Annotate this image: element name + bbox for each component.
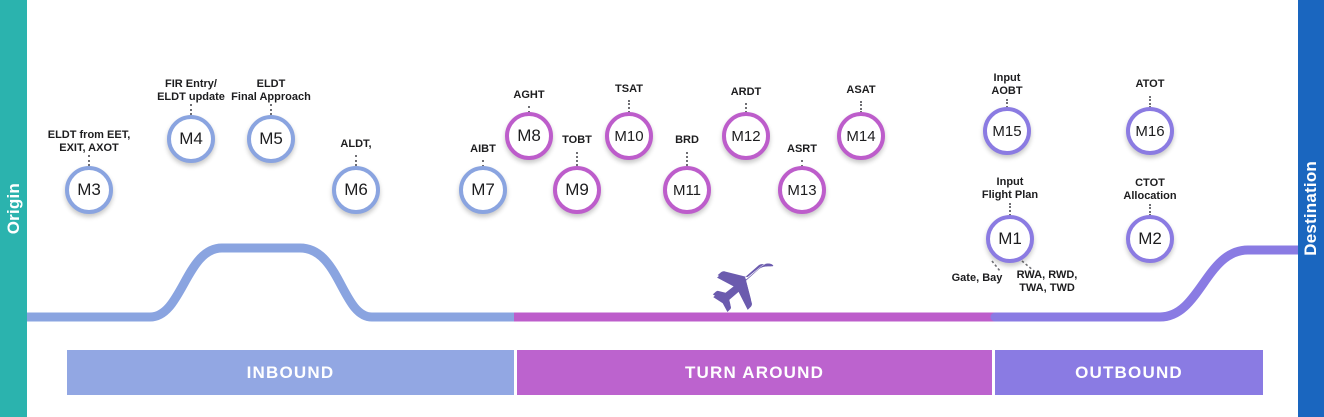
milestone-node-m11[interactable]: M11	[663, 166, 711, 214]
milestone-label-m10: TSAT	[615, 83, 643, 96]
milestone-id-m8: M8	[505, 112, 553, 160]
milestone-label-m8: AGHT	[513, 89, 544, 102]
milestone-node-m2[interactable]: M2	[1126, 215, 1174, 263]
milestone-timeline-diagram: Origin Destination ELDT from EET, EXIT, …	[0, 0, 1324, 417]
phase-bar-turnaround[interactable]: TURN AROUND	[517, 350, 992, 395]
milestone-label-m1: Input Flight Plan	[982, 176, 1038, 201]
milestone-label-m15: Input AOBT	[991, 72, 1022, 97]
milestone-node-m12[interactable]: M12	[722, 112, 770, 160]
milestone-node-m4[interactable]: M4	[167, 115, 215, 163]
phase-label-turnaround: TURN AROUND	[685, 363, 824, 383]
milestone-label-m16: ATOT	[1136, 78, 1165, 91]
milestone-label-m14: ASAT	[846, 84, 875, 97]
milestone-id-m4: M4	[167, 115, 215, 163]
milestone-id-m16: M16	[1126, 107, 1174, 155]
milestone-label-m2: CTOT Allocation	[1123, 177, 1176, 202]
connector-stem-m11	[686, 152, 688, 166]
milestone-sublabel-m1-1: RWA, RWD, TWA, TWD	[1017, 269, 1078, 294]
milestone-label-m12: ARDT	[731, 86, 762, 99]
milestone-node-m1[interactable]: M1	[986, 215, 1034, 263]
airplane-icon	[713, 264, 773, 312]
milestone-label-m5: ELDT Final Approach	[231, 78, 311, 103]
milestone-id-m9: M9	[553, 166, 601, 214]
milestone-id-m5: M5	[247, 115, 295, 163]
milestone-id-m1: M1	[986, 215, 1034, 263]
milestone-label-m11: BRD	[675, 134, 699, 147]
connector-stem-m9	[576, 152, 578, 166]
milestone-node-m3[interactable]: M3	[65, 166, 113, 214]
milestone-node-m10[interactable]: M10	[605, 112, 653, 160]
connector-stem-m6	[355, 155, 357, 166]
milestone-id-m3: M3	[65, 166, 113, 214]
phase-label-outbound: OUTBOUND	[1075, 363, 1183, 383]
milestone-label-m13: ASRT	[787, 143, 817, 156]
phase-label-inbound: INBOUND	[247, 363, 335, 383]
milestone-node-m15[interactable]: M15	[983, 107, 1031, 155]
milestone-label-m9: TOBT	[562, 134, 592, 147]
milestone-node-m13[interactable]: M13	[778, 166, 826, 214]
origin-label: Origin	[4, 183, 24, 234]
milestone-node-m6[interactable]: M6	[332, 166, 380, 214]
milestone-id-m11: M11	[663, 166, 711, 214]
milestone-node-m9[interactable]: M9	[553, 166, 601, 214]
destination-rail: Destination	[1298, 0, 1324, 417]
milestone-label-m3: ELDT from EET, EXIT, AXOT	[48, 129, 131, 154]
origin-rail: Origin	[0, 0, 27, 417]
milestone-id-m14: M14	[837, 112, 885, 160]
milestone-id-m2: M2	[1126, 215, 1174, 263]
milestone-node-m14[interactable]: M14	[837, 112, 885, 160]
milestone-node-m5[interactable]: M5	[247, 115, 295, 163]
milestone-id-m6: M6	[332, 166, 380, 214]
connector-stem-m5	[270, 104, 272, 115]
connector-stem-m3	[88, 155, 90, 166]
milestone-node-m8[interactable]: M8	[505, 112, 553, 160]
destination-label: Destination	[1301, 161, 1321, 256]
milestone-label-m4: FIR Entry/ ELDT update	[157, 78, 225, 103]
milestone-id-m15: M15	[983, 107, 1031, 155]
phase-bar-inbound[interactable]: INBOUND	[67, 350, 514, 395]
milestone-node-m16[interactable]: M16	[1126, 107, 1174, 155]
phase-bar-outbound[interactable]: OUTBOUND	[995, 350, 1263, 395]
milestone-node-m7[interactable]: M7	[459, 166, 507, 214]
milestone-id-m13: M13	[778, 166, 826, 214]
connector-stem-m4	[190, 104, 192, 115]
milestone-id-m10: M10	[605, 112, 653, 160]
milestone-id-m7: M7	[459, 166, 507, 214]
milestone-sublabel-m1-0: Gate, Bay	[952, 272, 1003, 285]
milestone-label-m7: AIBT	[470, 143, 496, 156]
milestone-label-m6: ALDT,	[340, 138, 371, 151]
milestone-id-m12: M12	[722, 112, 770, 160]
